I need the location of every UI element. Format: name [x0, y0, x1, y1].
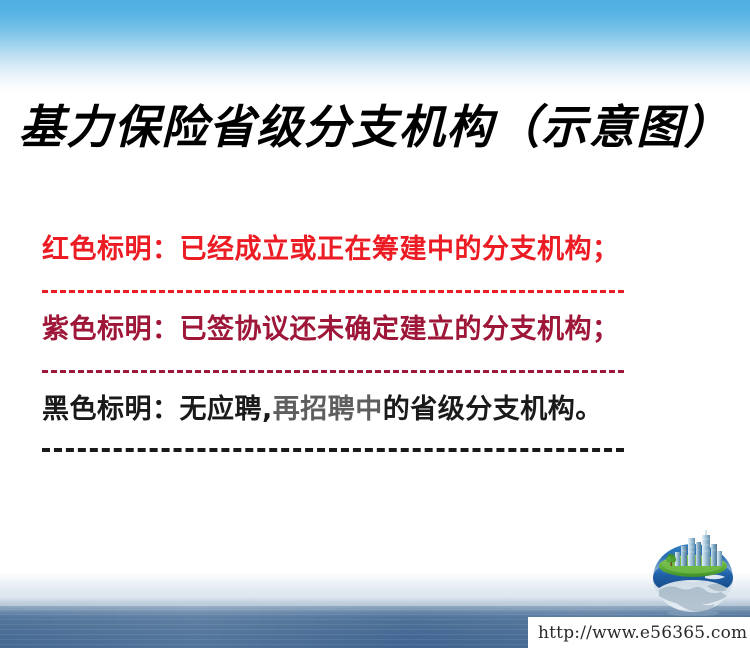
- sky-gradient-band: [0, 0, 750, 92]
- page-title: 基力保险省级分支机构（示意图）: [0, 98, 750, 158]
- legend-description-black-part1: 无应聘,: [180, 394, 273, 425]
- watermark-url-text: http://www.e56365.com: [538, 623, 747, 643]
- legend-row-red: 红色标明：已经成立或正在筹建中的分支机构；: [42, 236, 642, 263]
- legend-label-black: 黑色标明：: [42, 394, 180, 425]
- legend-description-black-part3: 的省级分支机构。: [383, 394, 603, 425]
- slide-canvas: 基力保险省级分支机构（示意图） 红色标明：已经成立或正在筹建中的分支机构； 紫色…: [0, 0, 750, 648]
- legend-description-black-part2: 再招聘中: [273, 394, 383, 425]
- legend-description-purple: 已签协议还未确定建立的分支机构；: [180, 314, 620, 345]
- legend-divider-black: [42, 448, 624, 452]
- legend-divider-red: [42, 290, 624, 293]
- legend-label-red: 红色标明：: [42, 234, 180, 265]
- legend-row-purple: 紫色标明：已签协议还未确定建立的分支机构；: [42, 316, 642, 343]
- legend-label-purple: 紫色标明：: [42, 314, 180, 345]
- legend-description-red: 已经成立或正在筹建中的分支机构；: [180, 234, 620, 265]
- legend-row-black: 黑色标明：无应聘,再招聘中的省级分支机构。: [42, 396, 642, 423]
- legend-divider-purple: [42, 370, 624, 373]
- watermark-url-plaque: http://www.e56365.com: [528, 617, 750, 648]
- globe-city-logo-icon: [645, 524, 741, 616]
- legend-block: 红色标明：已经成立或正在筹建中的分支机构； 紫色标明：已签协议还未确定建立的分支…: [42, 236, 642, 452]
